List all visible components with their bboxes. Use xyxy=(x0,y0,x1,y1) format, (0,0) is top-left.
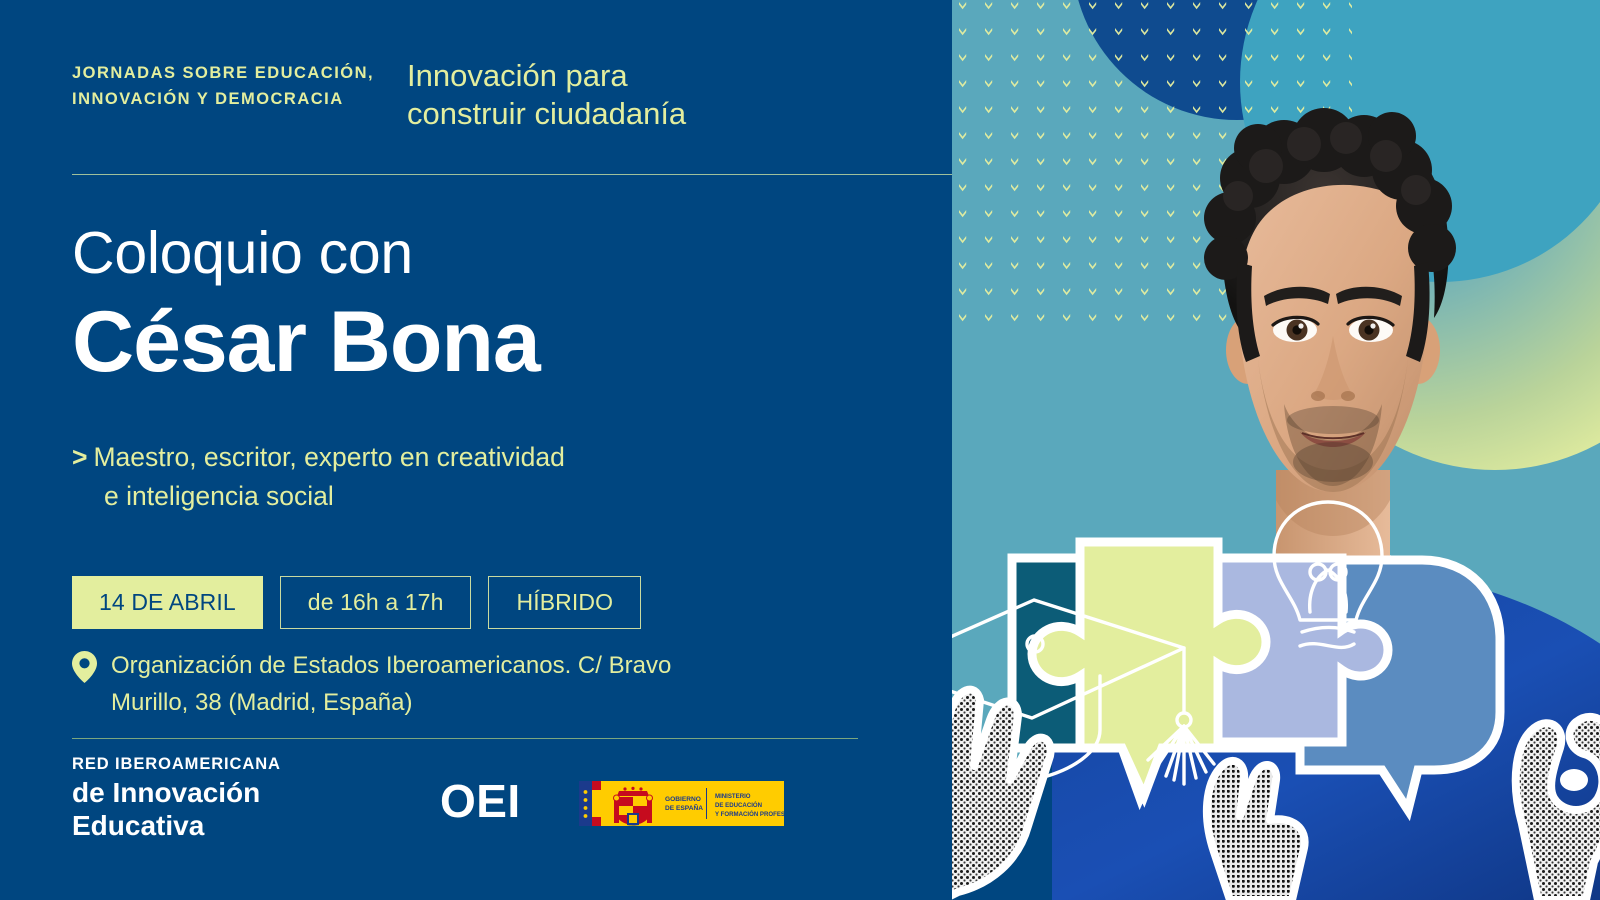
page-title-prefix: Coloquio con xyxy=(72,224,413,283)
page-title-speaker: César Bona xyxy=(72,297,540,387)
badge-time[interactable]: de 16h a 17h xyxy=(280,576,472,629)
event-poster: JORNADAS SOBRE EDUCACIÓN, INNOVACIÓN Y D… xyxy=(0,0,1600,900)
event-address: Organización de Estados Iberoamericanos.… xyxy=(111,647,671,721)
divider-bottom xyxy=(72,738,858,739)
logo-red-iberoamericana: RED IBEROAMERICANA de Innovación Educati… xyxy=(72,752,364,842)
headline-line-1: Innovación para xyxy=(407,58,628,93)
logo-gobierno-de-espana: GOBIERNO DE ESPAÑA MINISTERIO DE EDUCACI… xyxy=(579,781,784,826)
halftone-hand-center xyxy=(1207,761,1305,900)
event-series-kicker: JORNADAS SOBRE EDUCACIÓN, INNOVACIÓN Y D… xyxy=(72,60,402,112)
speaker-description-line-2: e inteligencia social xyxy=(72,477,772,516)
footer-logos: RED IBEROAMERICANA de Innovación Educati… xyxy=(72,752,784,842)
halftone-hand-right xyxy=(1516,717,1600,900)
ministerio-line-1: MINISTERIO xyxy=(715,793,751,800)
event-address-line-1: Organización de Estados Iberoamericanos.… xyxy=(111,652,671,679)
logo-oei: OEI xyxy=(440,774,521,828)
gobierno-line-2: DE ESPAÑA xyxy=(665,803,703,812)
chevron-marker: > xyxy=(72,442,87,472)
content-column: JORNADAS SOBRE EDUCACIÓN, INNOVACIÓN Y D… xyxy=(0,0,960,900)
gobierno-line-1: GOBIERNO xyxy=(665,796,701,803)
network-logo-line-2: de Innovación xyxy=(72,777,364,810)
speaker-description: >Maestro, escritor, experto en creativid… xyxy=(72,438,772,516)
event-address-line-2: Murillo, 38 (Madrid, España) xyxy=(111,689,412,716)
event-headline: Innovación para construir ciudadanía xyxy=(407,57,887,133)
map-pin-icon xyxy=(72,651,97,683)
network-logo-line-3: Educativa xyxy=(72,810,364,843)
badge-format[interactable]: HÍBRIDO xyxy=(488,576,641,629)
event-location: Organización de Estados Iberoamericanos.… xyxy=(72,647,772,721)
ministerio-line-3: Y FORMACIÓN PROFESIONAL xyxy=(715,810,784,818)
event-meta-badges: 14 DE ABRIL de 16h a 17h HÍBRIDO xyxy=(72,576,641,629)
visual-panel xyxy=(952,0,1600,900)
headline-line-2: construir ciudadanía xyxy=(407,96,686,131)
collage-graphics xyxy=(952,480,1600,900)
speaker-description-line-1: Maestro, escritor, experto en creativida… xyxy=(93,442,564,472)
ministerio-line-2: DE EDUCACIÓN xyxy=(715,801,762,809)
badge-date[interactable]: 14 DE ABRIL xyxy=(72,576,263,629)
network-logo-line-1: RED IBEROAMERICANA xyxy=(72,752,364,777)
divider-top xyxy=(72,174,952,175)
